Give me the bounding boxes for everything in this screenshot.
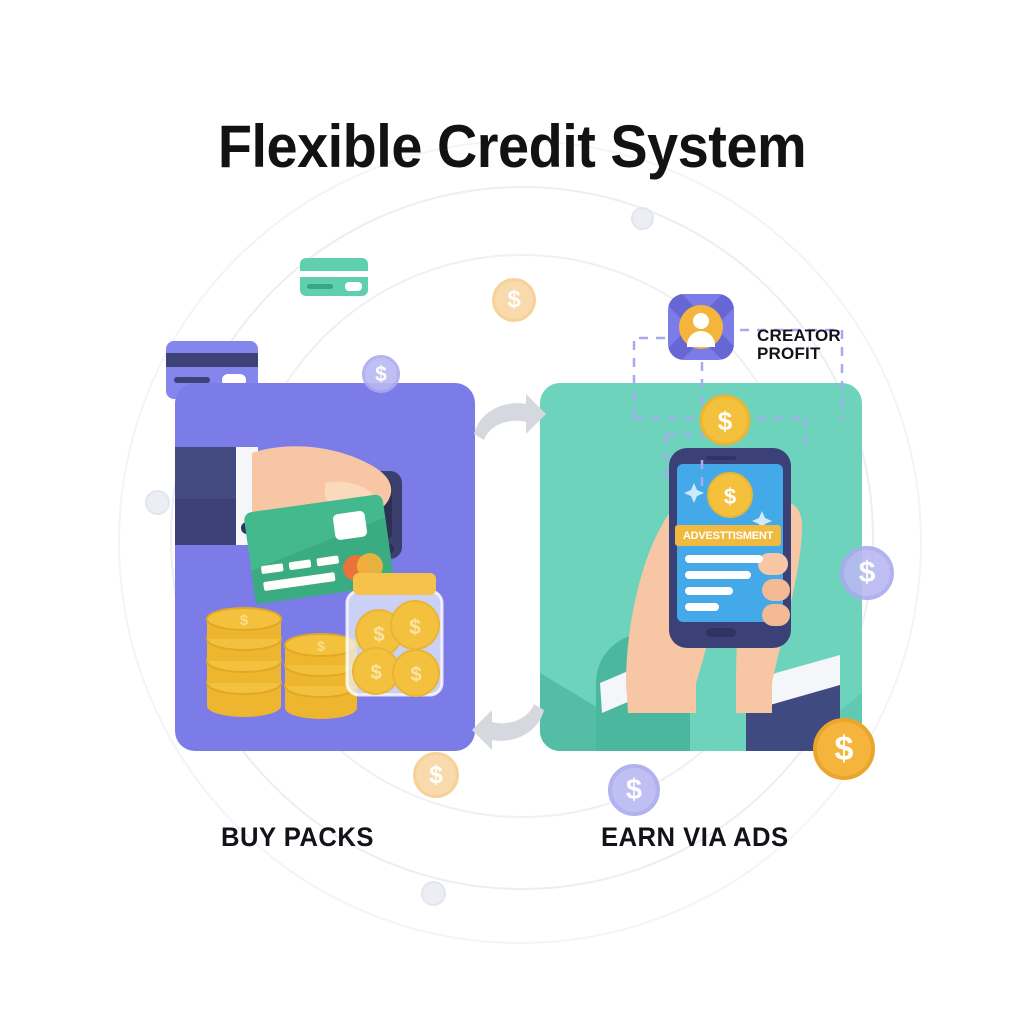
caption-buy-packs: BUY PACKS (221, 822, 374, 853)
page-title: Flexible Credit System (36, 112, 988, 181)
floating-coin-icon: $ (813, 718, 875, 780)
coin-symbol: $ (507, 288, 520, 312)
arrow-left-icon (470, 686, 548, 761)
infographic-canvas: Flexible Credit System (0, 0, 1024, 1024)
svg-text:$: $ (317, 638, 325, 654)
panel-buy-packs[interactable]: $ $ $ $ (175, 383, 475, 751)
card-line (307, 284, 333, 289)
phone-home-button (706, 628, 736, 637)
arc-dot (145, 490, 170, 515)
coin-symbol: $ (626, 776, 642, 805)
svg-text:$: $ (373, 624, 384, 646)
arc-dot (631, 207, 654, 230)
coin-symbol: $ (835, 732, 854, 766)
avatar-head (693, 313, 709, 329)
caption-earn-via-ads: EARN VIA ADS (601, 822, 789, 853)
creator-profit-line1: CREATOR (757, 327, 877, 345)
content-line (685, 603, 719, 611)
content-line (685, 571, 751, 579)
coin-symbol: $ (429, 763, 443, 788)
floating-coin-icon: $ (608, 764, 660, 816)
floating-coin-icon: $ (362, 355, 400, 393)
coin-symbol: $ (375, 364, 387, 385)
coin-icon: $ (697, 392, 753, 448)
card-chip (332, 510, 367, 540)
advertisement-banner[interactable]: ADVESTTISMENT (675, 525, 781, 546)
svg-text:$: $ (410, 664, 421, 686)
svg-text:$: $ (240, 612, 249, 629)
svg-text:$: $ (718, 406, 733, 436)
floating-coin-icon: $ (413, 752, 459, 798)
user-avatar-icon[interactable] (668, 294, 734, 360)
creator-profit-label: CREATOR PROFIT (757, 327, 877, 363)
card-chip (345, 282, 362, 291)
card-magstripe (166, 353, 258, 367)
svg-text:$: $ (370, 662, 381, 684)
credit-card-icon (300, 258, 368, 296)
coin-jar-icon: $ $ $ $ (347, 573, 442, 696)
arrow-right-icon (470, 388, 548, 463)
coin-stack-icon: $ (207, 608, 281, 717)
floating-coin-icon: $ (840, 546, 894, 600)
content-line (685, 587, 733, 595)
content-line (685, 555, 763, 563)
coin-symbol: $ (859, 558, 876, 588)
floating-coin-icon: $ (492, 278, 536, 322)
arc-dot (421, 881, 446, 906)
creator-profit-line2: PROFIT (757, 345, 877, 363)
svg-text:$: $ (409, 616, 421, 639)
card-stripe (300, 271, 368, 277)
